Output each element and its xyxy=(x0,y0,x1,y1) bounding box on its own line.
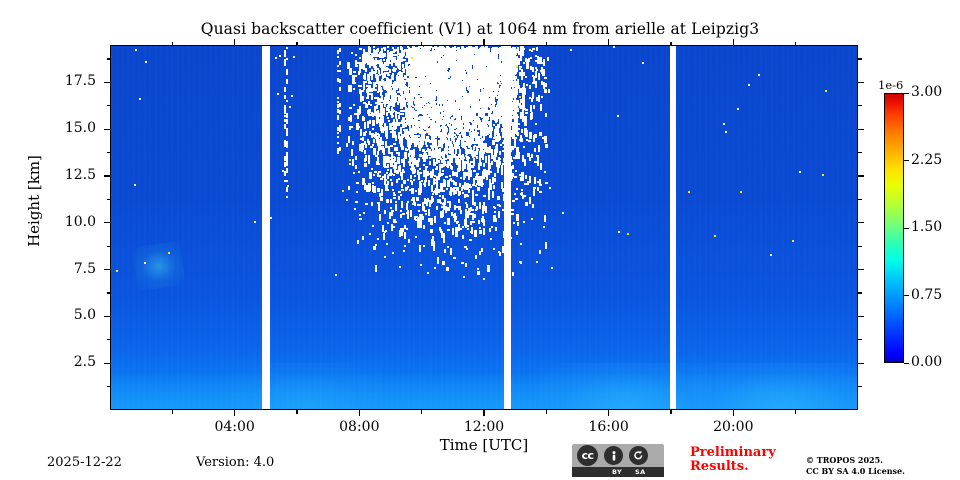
colorbar[interactable] xyxy=(884,93,904,363)
y-axis-tick xyxy=(104,129,110,130)
colorbar-tick-label: 0.75 xyxy=(911,287,942,303)
colorbar-tick-label: 2.25 xyxy=(911,152,942,168)
heatmap-plot-area[interactable] xyxy=(110,45,858,410)
boundary-layer-bump-c xyxy=(231,363,381,409)
preliminary-line-2: Results. xyxy=(690,460,776,474)
colorbar-tick-label: 0.00 xyxy=(911,354,942,370)
share-alike-icon xyxy=(629,446,648,465)
y-axis-tick-right xyxy=(858,175,864,176)
y-axis-minor-tick xyxy=(107,292,111,293)
x-axis-tick xyxy=(608,410,609,416)
colorbar-tick xyxy=(904,363,909,364)
footer-date: 2025-12-22 xyxy=(47,455,122,470)
colorbar-gradient xyxy=(884,93,904,363)
boundary-layer-bump-b xyxy=(691,363,858,409)
x-axis-minor-tick-top xyxy=(172,42,173,46)
data-gap-bar xyxy=(262,46,270,409)
y-axis-tick xyxy=(104,269,110,270)
x-axis-minor-tick-top xyxy=(670,42,671,46)
x-axis-tick-label: 12:00 xyxy=(444,419,524,435)
y-axis-tick-label: 5.0 xyxy=(24,307,96,323)
x-axis-tick-top xyxy=(733,39,734,45)
y-axis-minor-tick-right xyxy=(858,105,862,106)
cc-license-badge[interactable]: cc BY SA xyxy=(572,444,664,477)
y-axis-minor-tick-right xyxy=(858,292,862,293)
x-axis-tick-top xyxy=(608,39,609,45)
x-axis-tick-label: 16:00 xyxy=(569,419,649,435)
footer-version: Version: 4.0 xyxy=(196,455,274,470)
colorbar-tick xyxy=(904,160,909,161)
x-axis-minor-tick xyxy=(172,410,173,414)
tropos-copyright: © TROPOS 2025. CC BY SA 4.0 License. xyxy=(806,455,905,476)
y-axis-minor-tick-right xyxy=(858,152,862,153)
x-axis-tick xyxy=(483,410,484,416)
x-axis-tick-label: 20:00 xyxy=(693,419,773,435)
data-gap-bar xyxy=(670,46,676,409)
attribution-person-icon xyxy=(604,446,623,465)
y-axis-tick-right xyxy=(858,129,864,130)
colorbar-tick xyxy=(904,93,909,94)
creative-commons-icon: cc xyxy=(577,445,598,466)
y-axis-minor-tick xyxy=(107,246,111,247)
cc-sa-label: SA xyxy=(635,468,646,476)
y-axis-tick-right xyxy=(858,82,864,83)
y-axis-tick xyxy=(104,316,110,317)
cirrus-feature xyxy=(132,241,186,291)
y-axis-tick xyxy=(104,363,110,364)
x-axis-tick xyxy=(733,410,734,416)
page-title: Quasi backscatter coefficient (V1) at 10… xyxy=(0,20,960,38)
y-axis-tick-right xyxy=(858,222,864,223)
data-gap-bar xyxy=(504,46,511,409)
x-axis-minor-tick-top xyxy=(421,42,422,46)
y-axis-minor-tick-right xyxy=(858,199,862,200)
y-axis-minor-tick xyxy=(107,386,111,387)
y-axis-tick-right xyxy=(858,316,864,317)
colorbar-tick-label: 1.50 xyxy=(911,219,942,235)
y-axis-tick-label: 17.5 xyxy=(24,73,96,89)
y-axis-label: Height [km] xyxy=(25,121,43,281)
x-axis-tick-top xyxy=(359,39,360,45)
x-axis-minor-tick-top xyxy=(296,42,297,46)
y-axis-minor-tick xyxy=(107,199,111,200)
colorbar-tick xyxy=(904,295,909,296)
x-axis-tick-top xyxy=(234,39,235,45)
preliminary-line-1: Preliminary xyxy=(690,446,776,460)
y-axis-minor-tick xyxy=(107,339,111,340)
copyright-line-1: © TROPOS 2025. xyxy=(806,455,905,466)
y-axis-tick xyxy=(104,82,110,83)
x-axis-minor-tick xyxy=(546,410,547,414)
x-axis-minor-tick xyxy=(670,410,671,414)
y-axis-minor-tick xyxy=(107,105,111,106)
y-axis-tick-label: 2.5 xyxy=(24,354,96,370)
x-axis-tick-label: 08:00 xyxy=(319,419,399,435)
y-axis-minor-tick xyxy=(107,152,111,153)
colorbar-tick xyxy=(904,228,909,229)
x-axis-minor-tick-top xyxy=(795,42,796,46)
y-axis-minor-tick-right xyxy=(858,58,862,59)
cc-badge-icons: cc xyxy=(572,444,664,467)
y-axis-tick-right xyxy=(858,269,864,270)
cc-badge-footer-labels: BY SA xyxy=(572,467,664,477)
x-axis-tick xyxy=(234,410,235,416)
x-axis-tick-label: 04:00 xyxy=(195,419,275,435)
x-axis-minor-tick-top xyxy=(546,42,547,46)
y-axis-tick xyxy=(104,175,110,176)
cc-by-label: BY xyxy=(612,468,622,476)
x-axis-minor-tick xyxy=(421,410,422,414)
y-axis-minor-tick xyxy=(107,58,111,59)
x-axis-tick-top xyxy=(483,39,484,45)
y-axis-minor-tick-right xyxy=(858,339,862,340)
y-axis-minor-tick-right xyxy=(858,386,862,387)
y-axis-tick-right xyxy=(858,363,864,364)
preliminary-results-notice: Preliminary Results. xyxy=(690,446,776,474)
copyright-line-2: CC BY SA 4.0 License. xyxy=(806,466,905,477)
y-axis-tick xyxy=(104,222,110,223)
boundary-layer-bump-a xyxy=(541,363,711,409)
x-axis-tick xyxy=(359,410,360,416)
colorbar-exponent-label: 1e-6 xyxy=(878,78,903,92)
y-axis-minor-tick-right xyxy=(858,246,862,247)
colorbar-tick-label: 3.00 xyxy=(911,84,942,100)
x-axis-minor-tick xyxy=(795,410,796,414)
x-axis-minor-tick xyxy=(296,410,297,414)
